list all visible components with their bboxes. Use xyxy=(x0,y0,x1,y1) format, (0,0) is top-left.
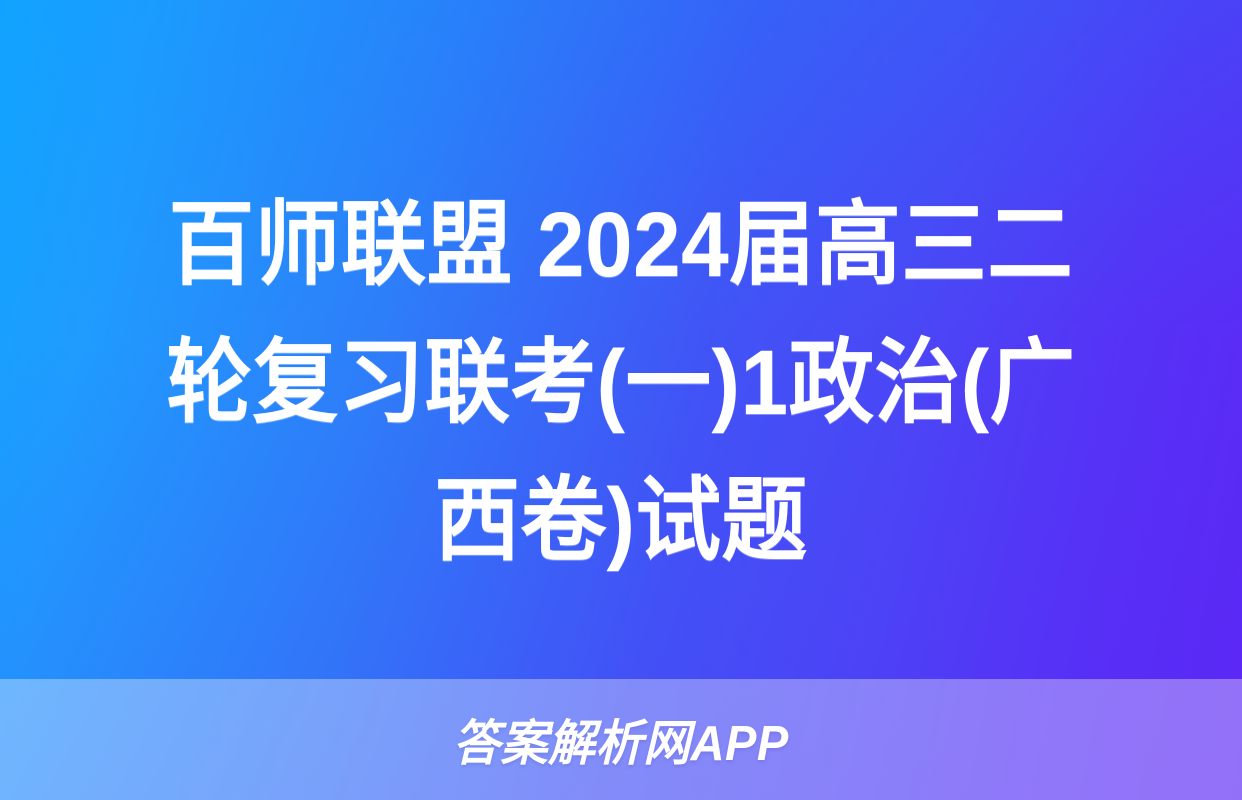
page-title: 百师联盟 2024届高三二 轮复习联考(一)1政治(广 西卷)试题 xyxy=(0,176,1242,590)
watermark-band: 答案解析网APP xyxy=(0,679,1242,800)
title-line-3: 西卷)试题 xyxy=(101,452,1141,590)
title-line-1: 百师联盟 2024届高三二 xyxy=(101,176,1141,314)
title-line-2: 轮复习联考(一)1政治(广 xyxy=(101,314,1141,452)
exam-cover-card: 百师联盟 2024届高三二 轮复习联考(一)1政治(广 西卷)试题 答案解析网A… xyxy=(0,0,1242,800)
watermark-label: 答案解析网APP xyxy=(453,704,789,775)
